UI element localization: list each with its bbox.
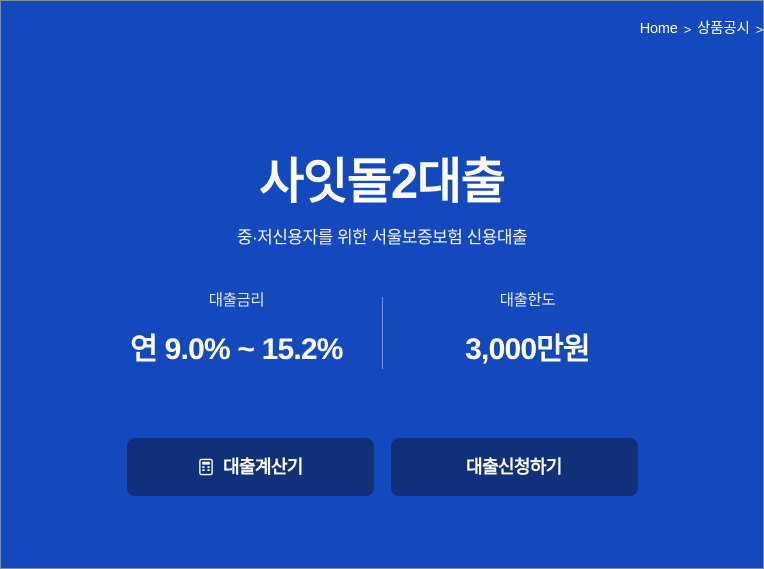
- breadcrumb-item-product-disclosure[interactable]: 상품공시: [697, 22, 750, 37]
- loan-summary-stats: 대출금리 연 9.0% ~ 15.2% 대출한도 3,000만원: [1, 293, 763, 369]
- stat-interest-rate-label: 대출금리: [92, 293, 382, 309]
- calculator-icon: [197, 458, 215, 476]
- page-title: 사잇돌2대출: [1, 156, 763, 210]
- loan-calculator-button-label: 대출계산기: [223, 458, 303, 476]
- loan-calculator-button[interactable]: 대출계산기: [127, 438, 374, 496]
- loan-apply-button-label: 대출신청하기: [466, 458, 562, 476]
- breadcrumb-trailing-separator-icon: >: [756, 23, 763, 36]
- loan-product-hero-banner: Home > 상품공시 > 사잇돌2대출 중·저신용자를 위한 서울보증보험 신…: [0, 0, 764, 569]
- page-subtitle: 중·저신용자를 위한 서울보증보험 신용대출: [1, 227, 763, 249]
- breadcrumb: Home > 상품공시 >: [640, 22, 763, 37]
- stat-loan-limit-label: 대출한도: [383, 293, 673, 309]
- breadcrumb-separator-icon: >: [684, 23, 691, 36]
- loan-apply-button[interactable]: 대출신청하기: [391, 438, 638, 496]
- stat-loan-limit: 대출한도 3,000만원: [383, 293, 673, 365]
- stat-interest-rate-value: 연 9.0% ~ 15.2%: [92, 335, 382, 365]
- breadcrumb-item-home[interactable]: Home: [640, 22, 678, 37]
- cta-button-row: 대출계산기 대출신청하기: [1, 438, 763, 496]
- stat-interest-rate: 대출금리 연 9.0% ~ 15.2%: [92, 293, 382, 365]
- stat-loan-limit-value: 3,000만원: [383, 335, 673, 365]
